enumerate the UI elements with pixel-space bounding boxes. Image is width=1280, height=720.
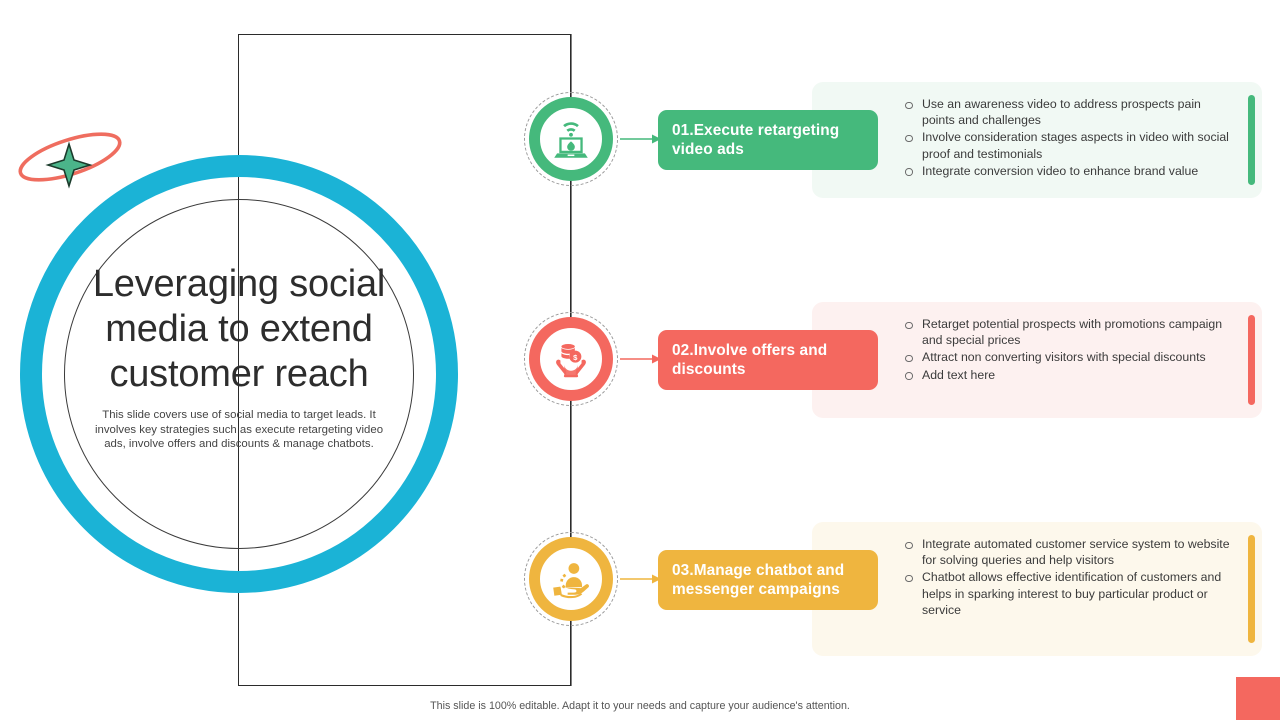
step-label-text: 02.Involve offers and discounts xyxy=(672,341,864,380)
list-item: Add text here xyxy=(904,367,1232,383)
step-label-pill-2[interactable]: 02.Involve offers and discounts xyxy=(658,330,878,390)
detail-panel-3: Integrate automated customer service sys… xyxy=(812,522,1262,656)
step-label-text: 01.Execute retargeting video ads xyxy=(672,121,864,160)
step-label-pill-1[interactable]: 01.Execute retargeting video ads xyxy=(658,110,878,170)
list-item: Integrate conversion video to enhance br… xyxy=(904,163,1232,179)
corner-accent-square xyxy=(1236,677,1280,720)
laptop-wifi-icon xyxy=(546,114,596,164)
step-icon-badge-1[interactable] xyxy=(524,92,618,186)
detail-panel-1: Use an awareness video to address prospe… xyxy=(812,82,1262,198)
title-block: Leveraging social media to extend custom… xyxy=(60,262,418,452)
bullet-list-2: Retarget potential prospects with promot… xyxy=(904,316,1232,384)
list-item: Retarget potential prospects with promot… xyxy=(904,316,1232,348)
page-title: Leveraging social media to extend custom… xyxy=(60,262,418,397)
svg-text:$: $ xyxy=(573,353,578,362)
footer-note: This slide is 100% editable. Adapt it to… xyxy=(0,700,1280,712)
bullet-list-3: Integrate automated customer service sys… xyxy=(904,536,1232,619)
step-icon-badge-2[interactable]: $ xyxy=(524,312,618,406)
hands-holding-money-icon: $ xyxy=(546,334,596,384)
list-item: Attract non converting visitors with spe… xyxy=(904,349,1232,365)
panel-accent-bar-2 xyxy=(1248,315,1255,405)
list-item: Chatbot allows effective identification … xyxy=(904,569,1232,618)
step-label-pill-3[interactable]: 03.Manage chatbot and messenger campaign… xyxy=(658,550,878,610)
connector-arrow-1 xyxy=(620,130,662,148)
page-subtitle: This slide covers use of social media to… xyxy=(60,408,418,452)
ellipse-sparkle-motif xyxy=(12,124,130,194)
list-item: Involve consideration stages aspects in … xyxy=(904,129,1232,161)
step-icon-badge-3[interactable] xyxy=(524,532,618,626)
connector-arrow-2 xyxy=(620,350,662,368)
detail-panel-2: Retarget potential prospects with promot… xyxy=(812,302,1262,418)
step-label-text: 03.Manage chatbot and messenger campaign… xyxy=(672,561,864,600)
list-item: Use an awareness video to address prospe… xyxy=(904,96,1232,128)
connector-arrow-3 xyxy=(620,570,662,588)
panel-accent-bar-3 xyxy=(1248,535,1255,643)
bullet-list-1: Use an awareness video to address prospe… xyxy=(904,96,1232,180)
list-item: Integrate automated customer service sys… xyxy=(904,536,1232,568)
panel-accent-bar-1 xyxy=(1248,95,1255,185)
hand-holding-customer-icon xyxy=(546,554,596,604)
slide-canvas: Leveraging social media to extend custom… xyxy=(0,0,1280,720)
